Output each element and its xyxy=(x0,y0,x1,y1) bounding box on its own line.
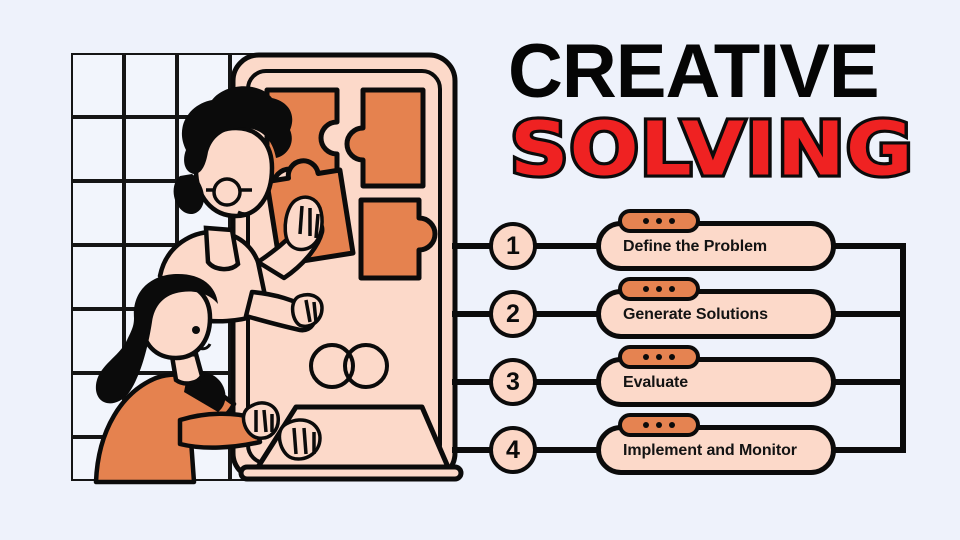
infographic-canvas: CREATIVE SOLVING 1 Define the Problem 2 xyxy=(0,0,960,540)
step-card-dots-tab[interactable] xyxy=(618,345,700,369)
step-card-dots-tab[interactable] xyxy=(618,209,700,233)
step-row[interactable]: 4 Implement and Monitor xyxy=(452,416,960,484)
step-card-dots-tab[interactable] xyxy=(618,413,700,437)
step-card-label: Generate Solutions xyxy=(623,306,768,324)
step-row[interactable]: 2 Generate Solutions xyxy=(452,280,960,348)
step-card-label: Implement and Monitor xyxy=(623,442,797,460)
connector-line-mid xyxy=(536,311,598,317)
connector-line-right xyxy=(834,447,906,453)
step-row[interactable]: 1 Define the Problem xyxy=(452,212,960,280)
dot-icon xyxy=(656,218,662,224)
connector-line-mid xyxy=(536,447,598,453)
step-number-circle[interactable]: 3 xyxy=(489,358,537,406)
dot-icon xyxy=(643,218,649,224)
dot-icon xyxy=(656,422,662,428)
title-block: CREATIVE SOLVING xyxy=(508,36,948,196)
dot-icon xyxy=(656,286,662,292)
dot-icon xyxy=(643,286,649,292)
dot-icon xyxy=(669,422,675,428)
step-number-circle[interactable]: 2 xyxy=(489,290,537,338)
step-card-dots-tab[interactable] xyxy=(618,277,700,301)
dot-icon xyxy=(669,354,675,360)
step-row[interactable]: 3 Evaluate xyxy=(452,348,960,416)
right-bracket-line xyxy=(900,243,906,453)
connector-line-mid xyxy=(536,379,598,385)
step-card-label: Evaluate xyxy=(623,374,688,392)
page-title-line2-wrap: SOLVING xyxy=(508,110,948,184)
dot-icon xyxy=(669,286,675,292)
page-title-line2: SOLVING xyxy=(510,110,914,188)
illustration-artwork xyxy=(0,0,480,540)
dot-icon xyxy=(643,422,649,428)
connector-line-mid xyxy=(536,243,598,249)
connector-line-right xyxy=(834,379,906,385)
step-number-circle[interactable]: 1 xyxy=(489,222,537,270)
dot-icon xyxy=(643,354,649,360)
step-number-circle[interactable]: 4 xyxy=(489,426,537,474)
dot-icon xyxy=(669,218,675,224)
connector-line-right xyxy=(834,243,906,249)
connector-line-right xyxy=(834,311,906,317)
page-title-line1: CREATIVE xyxy=(508,36,948,108)
step-card-label: Define the Problem xyxy=(623,238,767,256)
dot-icon xyxy=(656,354,662,360)
steps-list: 1 Define the Problem 2 Generate Solution… xyxy=(452,206,960,496)
